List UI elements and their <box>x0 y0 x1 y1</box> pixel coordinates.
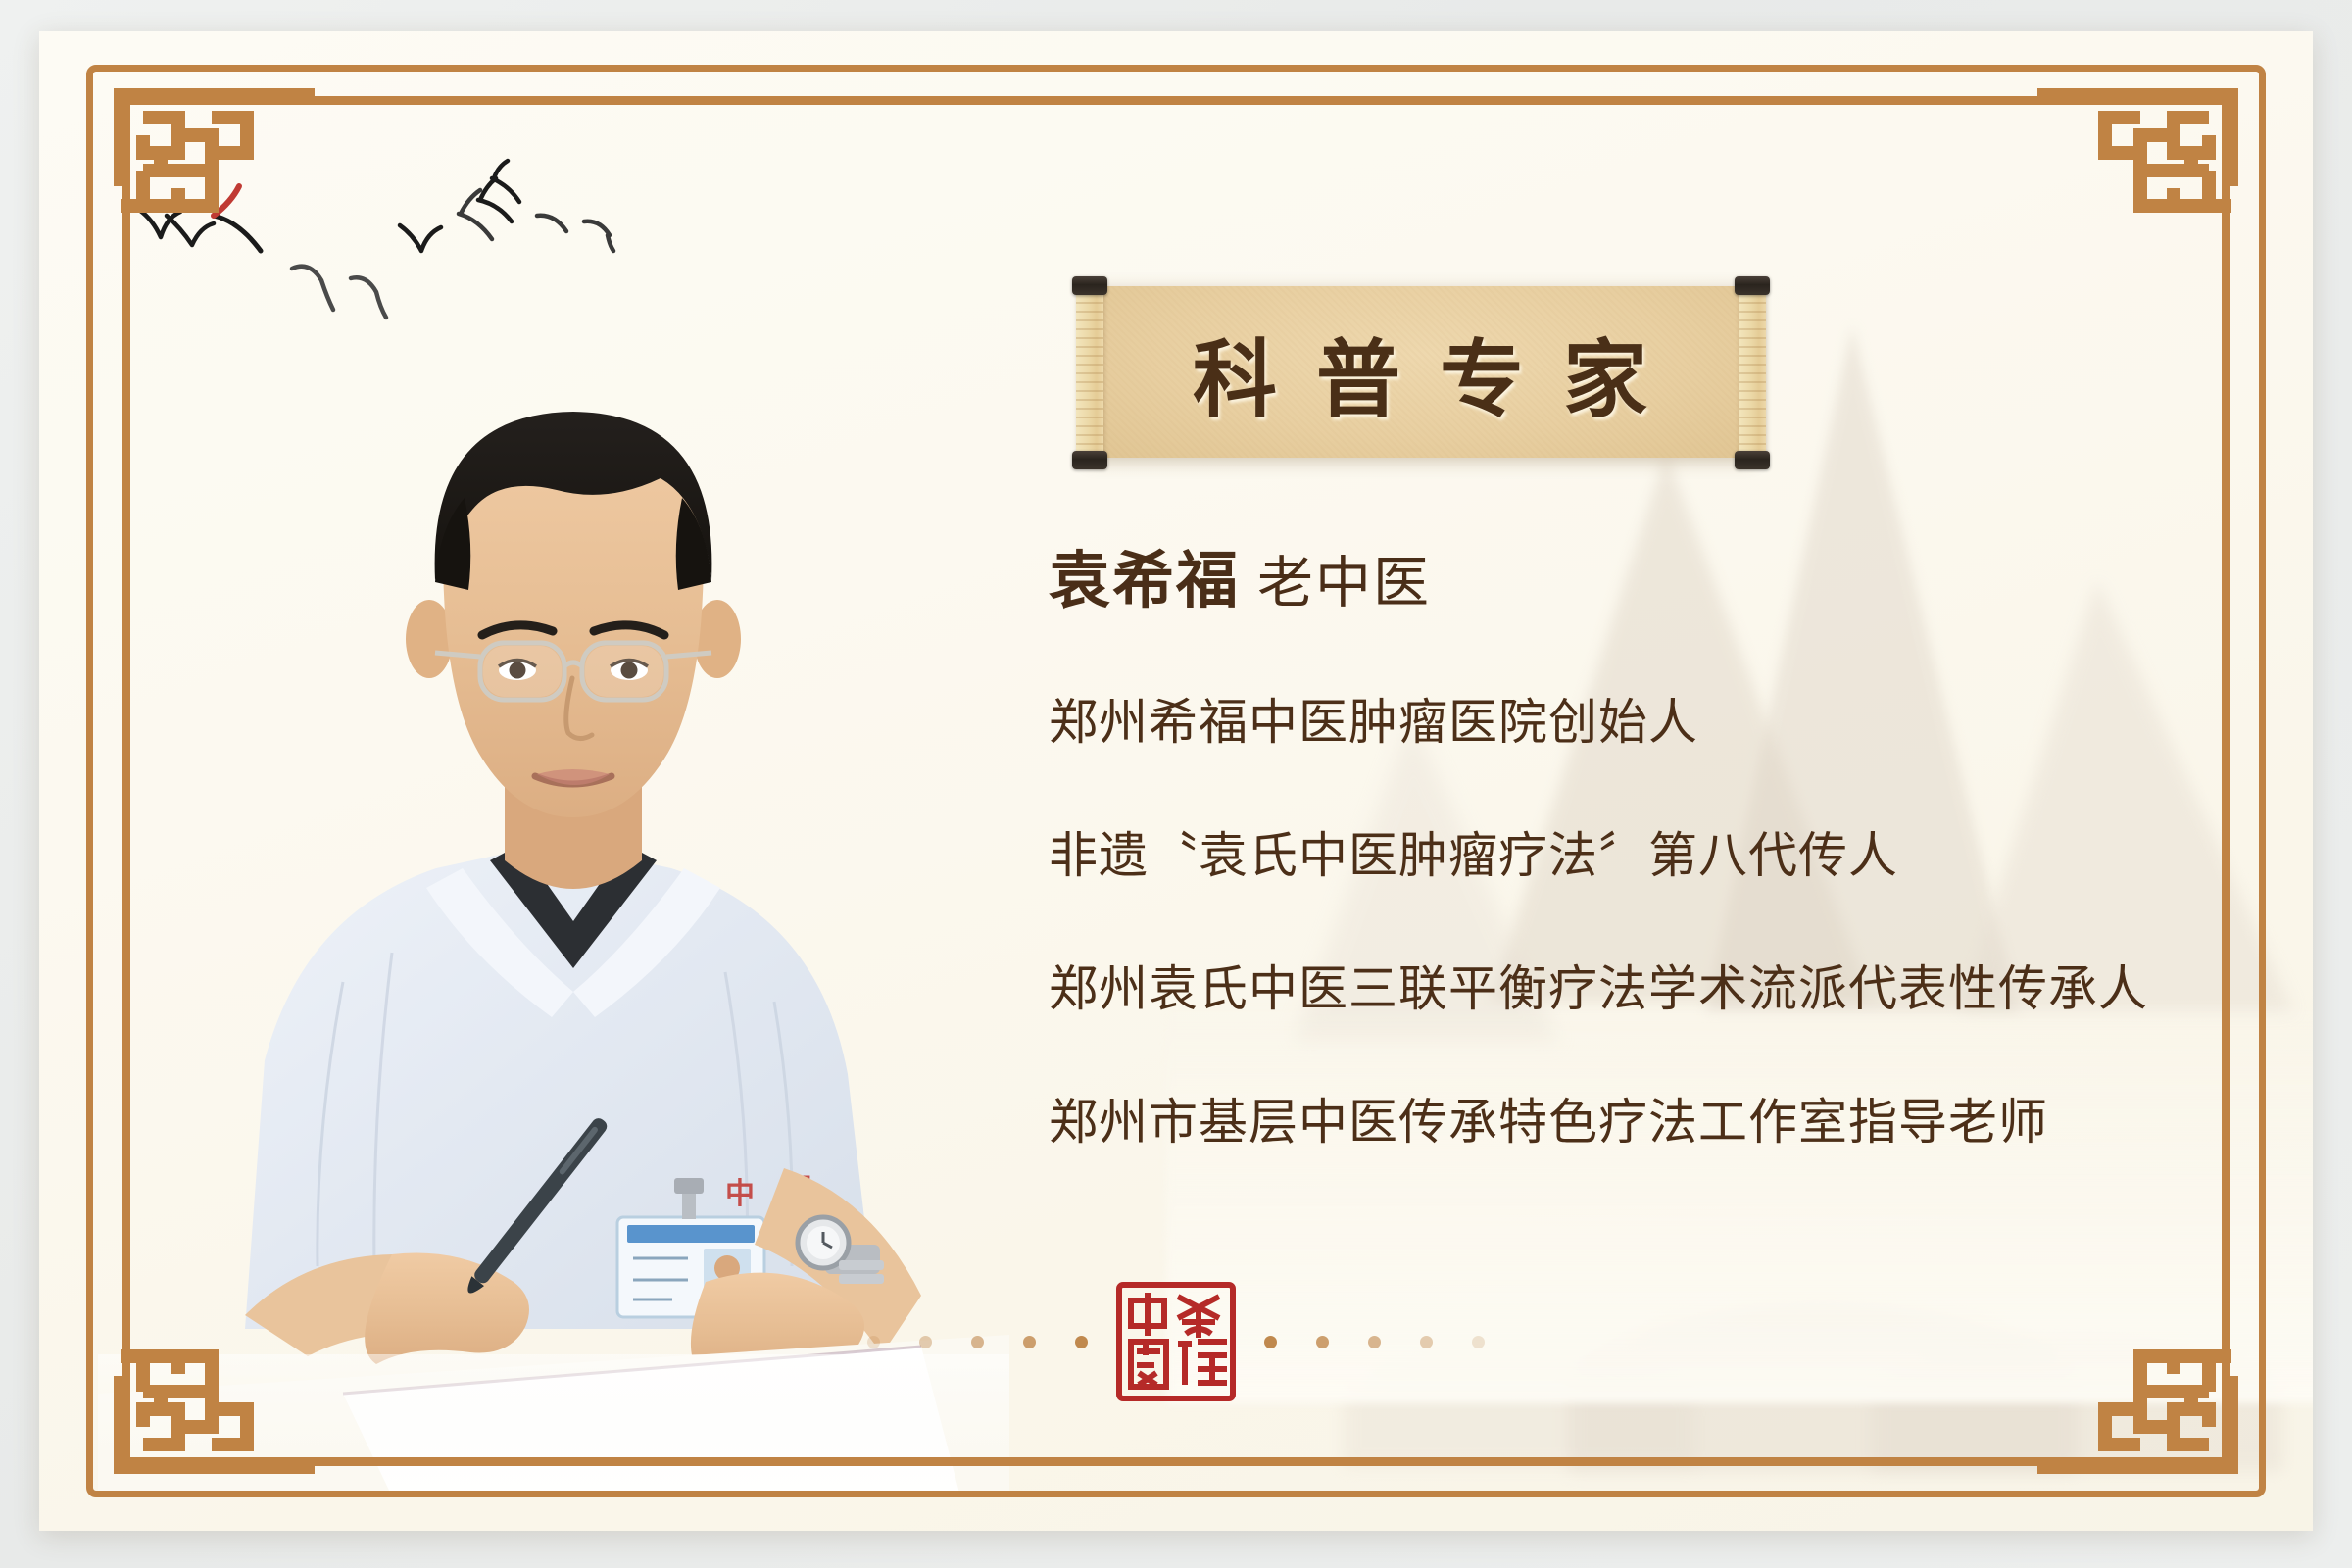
dot <box>1472 1336 1485 1348</box>
dot <box>1316 1336 1329 1348</box>
poster-card: 中 医 <box>39 31 2313 1531</box>
scroll-cap-top-right <box>1735 276 1770 295</box>
credential-item-4: 郑州市基层中医传承特色疗法工作室指导老师 <box>1049 1083 2313 1153</box>
dot <box>1368 1336 1381 1348</box>
scroll-banner-title: 科 普 专 家 <box>1088 286 1754 458</box>
doctor-title: 老中医 <box>1257 538 1431 618</box>
dot <box>1075 1336 1088 1348</box>
dot <box>971 1336 984 1348</box>
banner-char-3: 专 <box>1440 311 1526 433</box>
scroll-cap-bottom-left <box>1072 451 1107 469</box>
doctor-name: 袁希福 <box>1049 531 1240 620</box>
decorative-dots-left <box>867 1336 1088 1348</box>
credential-item-1: 郑州希福中医肿瘤医院创始人 <box>1049 683 2313 754</box>
scroll-rod-left-wrap <box>1076 284 1103 460</box>
dot <box>1264 1336 1277 1348</box>
scroll-rod-right-wrap <box>1739 284 1766 460</box>
dot <box>919 1336 932 1348</box>
corner-ornament-top-left-icon <box>114 88 319 260</box>
credential-item-3: 郑州袁氏中医三联平衡疗法学术流派代表性传承人 <box>1049 950 2313 1020</box>
svg-text:中: 中 <box>725 1177 755 1211</box>
credential-item-2: 非遗〝袁氏中医肿瘤疗法〞第八代传人 <box>1049 816 2313 887</box>
dot <box>867 1336 880 1348</box>
svg-text:医: 医 <box>782 1173 811 1207</box>
scroll-cap-top-left <box>1072 276 1107 295</box>
footer-seal-row <box>39 1268 2313 1415</box>
banner-char-4: 家 <box>1563 311 1649 433</box>
scroll-rod-left <box>1072 269 1107 474</box>
doctor-name-row: 袁希福 老中医 <box>1049 531 2313 620</box>
dot <box>1420 1336 1433 1348</box>
profile-info: 袁希福 老中医 郑州希福中医肿瘤医院创始人 非遗〝袁氏中医肿瘤疗法〞第八代传人 … <box>1049 531 2313 1153</box>
banner-char-1: 科 <box>1193 311 1279 433</box>
scroll-rod-right <box>1735 269 1770 474</box>
hospital-seal-icon <box>1113 1279 1239 1404</box>
scroll-cap-bottom-right <box>1735 451 1770 469</box>
corner-ornament-top-right-icon <box>2033 88 2238 260</box>
dot <box>1023 1336 1036 1348</box>
banner-char-2: 普 <box>1316 311 1402 433</box>
scroll-banner: 科 普 专 家 <box>1049 269 1793 474</box>
decorative-dots-right <box>1264 1336 1485 1348</box>
poster-canvas: 中 医 <box>0 0 2352 1568</box>
flying-birds-icon <box>127 149 637 325</box>
